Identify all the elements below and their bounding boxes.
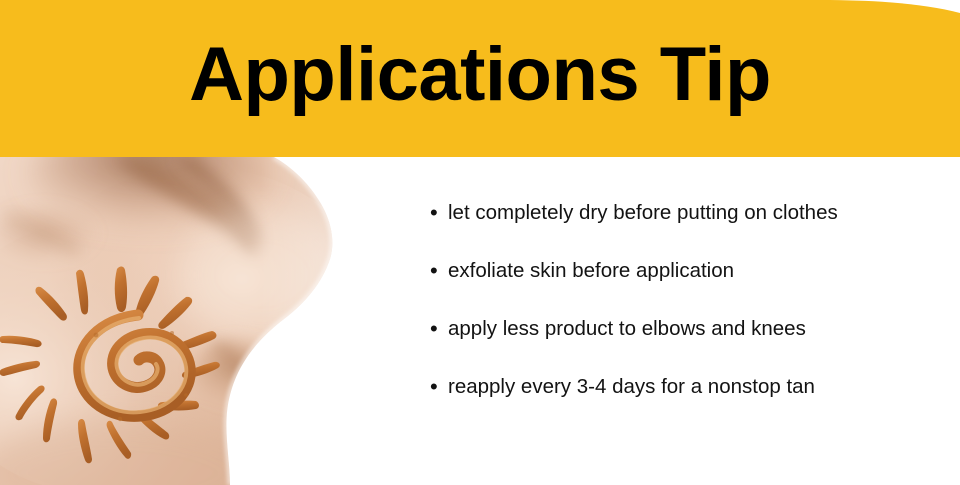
list-item: • let completely dry before putting on c…: [430, 200, 950, 258]
bullet-icon: •: [430, 316, 448, 342]
list-item: • apply less product to elbows and knees: [430, 316, 950, 374]
bullet-icon: •: [430, 374, 448, 400]
page-title: Applications Tip: [0, 0, 960, 157]
tips-list: • let completely dry before putting on c…: [430, 200, 950, 432]
shoulder-with-sun-drawing-image: [0, 157, 420, 485]
bullet-icon: •: [430, 258, 448, 284]
list-item: • exfoliate skin before application: [430, 258, 950, 316]
tip-text: reapply every 3-4 days for a nonstop tan: [448, 374, 815, 400]
tip-text: exfoliate skin before application: [448, 258, 734, 284]
tip-text: apply less product to elbows and knees: [448, 316, 806, 342]
bullet-icon: •: [430, 200, 448, 226]
product-photo: [0, 157, 420, 485]
applications-tip-infographic: Applications Tip: [0, 0, 960, 485]
tip-text: let completely dry before putting on clo…: [448, 200, 838, 226]
header-banner: Applications Tip: [0, 0, 960, 157]
list-item: • reapply every 3-4 days for a nonstop t…: [430, 374, 950, 432]
